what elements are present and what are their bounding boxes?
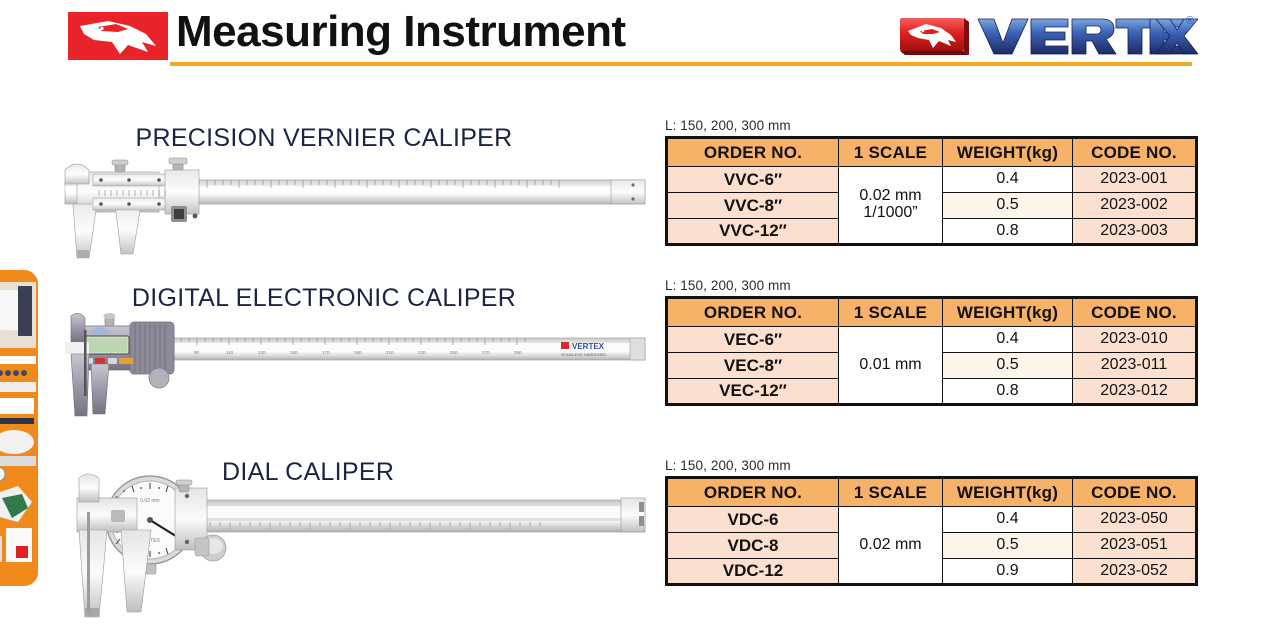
- cell-order-no: VDC-8: [667, 533, 839, 559]
- header-weight: WEIGHT(kg): [943, 478, 1073, 507]
- product-title-digital-electronic-caliper: DIGITAL ELECTRONIC CALIPER: [0, 284, 648, 313]
- svg-text:150: 150: [290, 350, 298, 355]
- scale-value-line-2: 1/1000”: [839, 205, 942, 222]
- cell-order-no: VDC-12: [667, 559, 839, 585]
- cell-weight: 0.8: [943, 379, 1073, 405]
- cell-weight: 0.9: [943, 559, 1073, 585]
- scale-value-line-1: 0.02 mm: [859, 536, 921, 553]
- spec-table: ORDER NO. 1 SCALE WEIGHT(kg) CODE NO. VD…: [665, 476, 1198, 586]
- header-code-no: CODE NO.: [1073, 138, 1197, 167]
- page-title: Measuring Instrument: [176, 7, 626, 57]
- svg-text:270: 270: [482, 350, 490, 355]
- spec-table: ORDER NO. 1 SCALE WEIGHT(kg) CODE NO. VE…: [665, 296, 1198, 406]
- cell-scale: 0.01 mm: [839, 327, 943, 405]
- cell-order-no: VVC-6″: [667, 167, 839, 193]
- header-order-no: ORDER NO.: [667, 138, 839, 167]
- table-row: VDC-6 0.02 mm 0.4 2023-050: [667, 507, 1197, 533]
- cell-weight: 0.8: [943, 219, 1073, 245]
- cell-code-no: 2023-002: [1073, 193, 1197, 219]
- dial-caliper-photo: 0.02 mm VERTEX: [55, 472, 655, 622]
- header-divider: [170, 62, 1192, 66]
- svg-text:0.02 mm: 0.02 mm: [140, 498, 159, 504]
- length-note: L: 150, 200, 300 mm: [665, 458, 1195, 473]
- header-order-no: ORDER NO.: [667, 298, 839, 327]
- product-section-digital-electronic-caliper: DIGITAL ELECTRONIC CALIPER: [0, 272, 1271, 432]
- product-section-dial-caliper: DIAL CALIPER: [0, 450, 1271, 620]
- cell-code-no: 2023-051: [1073, 533, 1197, 559]
- svg-text:250: 250: [450, 350, 458, 355]
- svg-text:130: 130: [258, 350, 266, 355]
- cell-order-no: VVC-8″: [667, 193, 839, 219]
- cell-order-no: VDC-6: [667, 507, 839, 533]
- header-scale: 1 SCALE: [839, 298, 943, 327]
- length-note: L: 150, 200, 300 mm: [665, 278, 1195, 293]
- cell-weight: 0.5: [943, 193, 1073, 219]
- svg-text:VERTEX: VERTEX: [572, 342, 605, 351]
- svg-text:210: 210: [386, 350, 394, 355]
- scale-value-line-1: 0.01 mm: [859, 356, 921, 373]
- catalog-page: Measuring Instrument: [0, 0, 1271, 629]
- table-header-row: ORDER NO. 1 SCALE WEIGHT(kg) CODE NO.: [667, 478, 1197, 507]
- trademark-symbol: ®: [1186, 15, 1194, 27]
- cell-scale: 0.02 mm: [839, 507, 943, 585]
- header-order-no: ORDER NO.: [667, 478, 839, 507]
- table-row: VVC-6″ 0.02 mm 1/1000” 0.4 2023-001: [667, 167, 1197, 193]
- cell-order-no: VVC-12″: [667, 219, 839, 245]
- cell-weight: 0.5: [943, 353, 1073, 379]
- header-scale: 1 SCALE: [839, 138, 943, 167]
- cell-code-no: 2023-012: [1073, 379, 1197, 405]
- cell-scale: 0.02 mm 1/1000”: [839, 167, 943, 245]
- svg-text:230: 230: [418, 350, 426, 355]
- header-code-no: CODE NO.: [1073, 298, 1197, 327]
- digital-electronic-caliper-photo: 7090110 130150170 190210230 250270290 VE…: [55, 312, 655, 422]
- spec-table-block-precision-vernier-caliper: L: 150, 200, 300 mm ORDER NO. 1 SCALE WE…: [665, 118, 1195, 246]
- page-header: Measuring Instrument: [0, 0, 1271, 80]
- header-weight: WEIGHT(kg): [943, 138, 1073, 167]
- cell-code-no: 2023-001: [1073, 167, 1197, 193]
- eagle-head-icon: [68, 12, 168, 60]
- svg-text:190: 190: [354, 350, 362, 355]
- svg-text:110: 110: [226, 350, 234, 355]
- header-weight: WEIGHT(kg): [943, 298, 1073, 327]
- svg-text:170: 170: [322, 350, 330, 355]
- length-note: L: 150, 200, 300 mm: [665, 118, 1195, 133]
- vertex-brand-logo: ®: [898, 10, 1198, 58]
- cell-weight: 0.4: [943, 507, 1073, 533]
- table-header-row: ORDER NO. 1 SCALE WEIGHT(kg) CODE NO.: [667, 138, 1197, 167]
- table-row: VEC-6″ 0.01 mm 0.4 2023-010: [667, 327, 1197, 353]
- cell-order-no: VEC-6″: [667, 327, 839, 353]
- header-code-no: CODE NO.: [1073, 478, 1197, 507]
- svg-text:290: 290: [514, 350, 522, 355]
- spec-table: ORDER NO. 1 SCALE WEIGHT(kg) CODE NO. VV…: [665, 136, 1198, 246]
- cell-order-no: VEC-12″: [667, 379, 839, 405]
- cell-weight: 0.4: [943, 327, 1073, 353]
- scale-value-line-1: 0.02 mm: [859, 187, 921, 204]
- cell-code-no: 2023-050: [1073, 507, 1197, 533]
- product-title-precision-vernier-caliper: PRECISION VERNIER CALIPER: [0, 124, 648, 153]
- cell-code-no: 2023-003: [1073, 219, 1197, 245]
- cell-code-no: 2023-011: [1073, 353, 1197, 379]
- cell-code-no: 2023-010: [1073, 327, 1197, 353]
- cell-code-no: 2023-052: [1073, 559, 1197, 585]
- svg-text:STAINLESS HARDENED: STAINLESS HARDENED: [561, 352, 606, 357]
- cell-weight: 0.5: [943, 533, 1073, 559]
- spec-table-block-digital-electronic-caliper: L: 150, 200, 300 mm ORDER NO. 1 SCALE WE…: [665, 278, 1195, 406]
- table-header-row: ORDER NO. 1 SCALE WEIGHT(kg) CODE NO.: [667, 298, 1197, 327]
- spec-table-block-dial-caliper: L: 150, 200, 300 mm ORDER NO. 1 SCALE WE…: [665, 458, 1195, 586]
- precision-vernier-caliper-photo: [55, 150, 655, 262]
- header-scale: 1 SCALE: [839, 478, 943, 507]
- cell-order-no: VEC-8″: [667, 353, 839, 379]
- svg-text:90: 90: [194, 350, 200, 355]
- cell-weight: 0.4: [943, 167, 1073, 193]
- product-section-precision-vernier-caliper: PRECISION VERNIER CALIPER: [0, 112, 1271, 262]
